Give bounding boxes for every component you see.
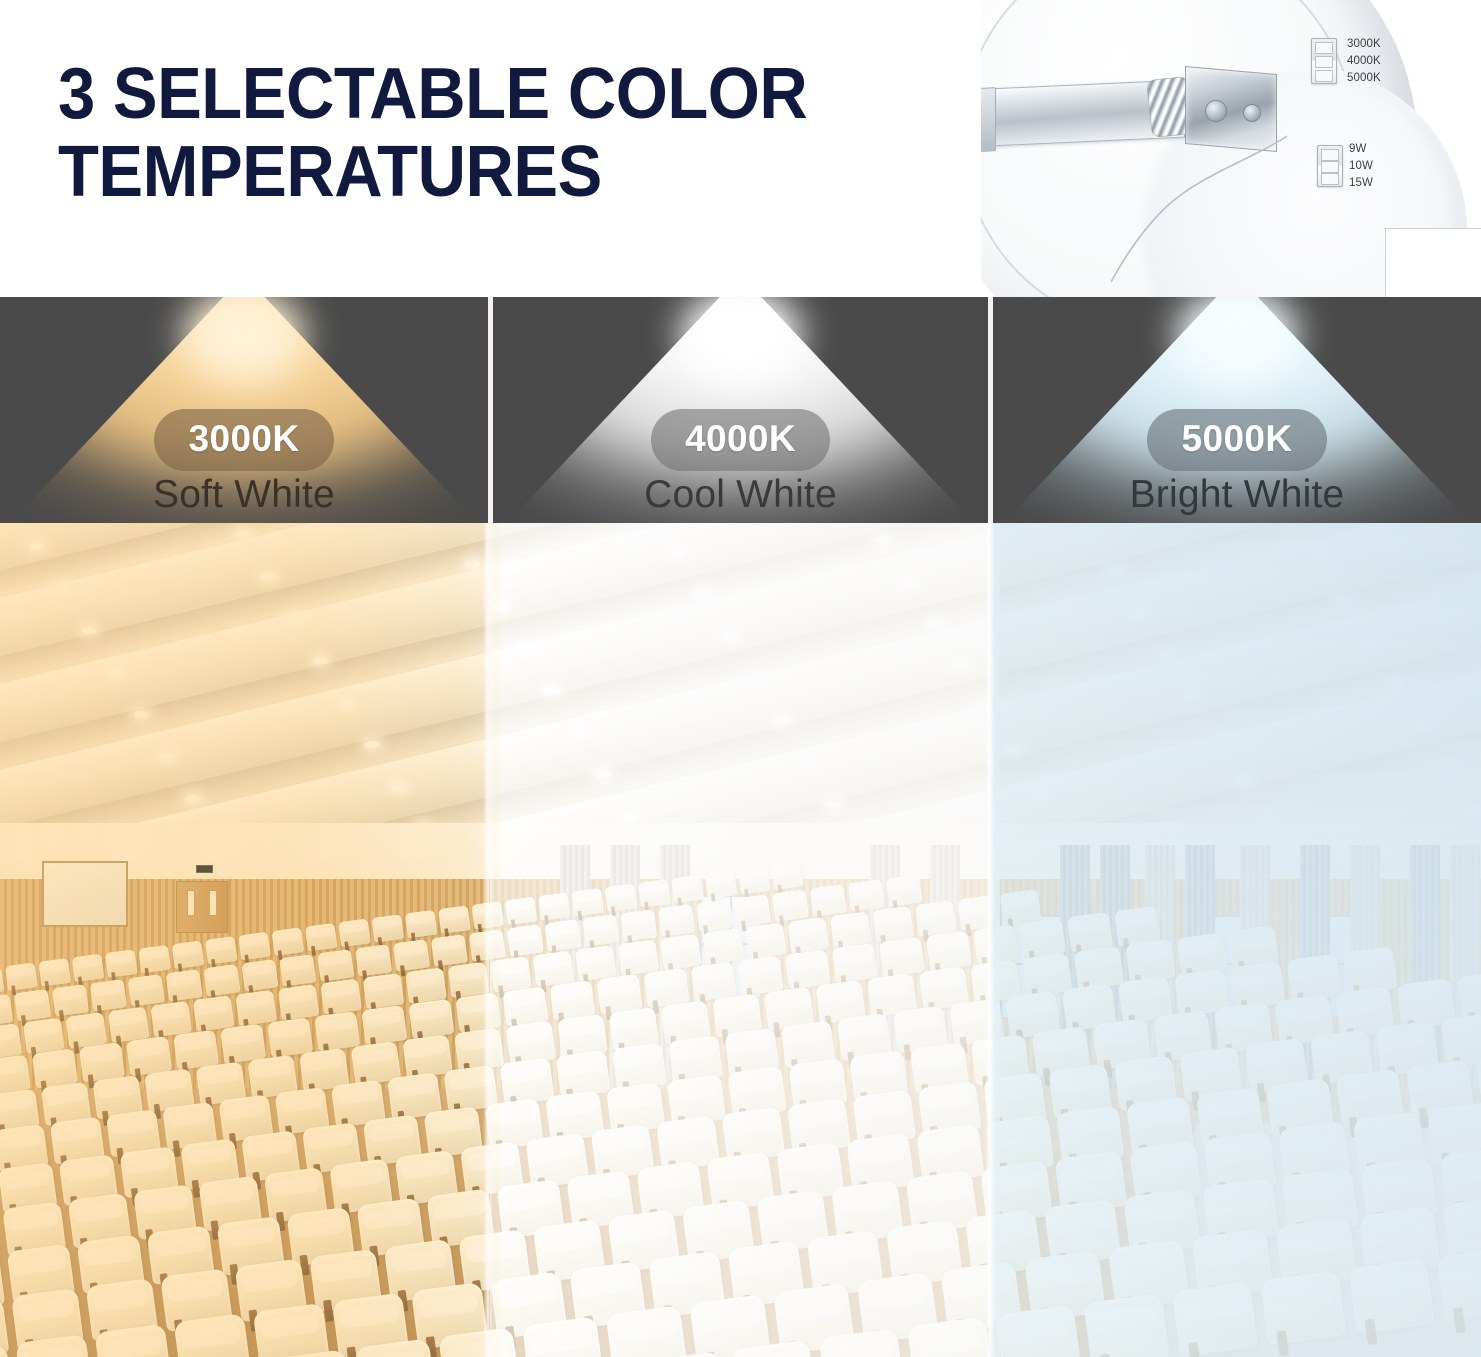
wattage-switch-labels: 9W 10W 15W bbox=[1349, 141, 1373, 191]
recessed-downlight-icon bbox=[775, 717, 789, 724]
cct-switch-labels: 3000K 4000K 5000K bbox=[1347, 36, 1381, 86]
auditorium-seat bbox=[469, 929, 506, 961]
auditorium-seat bbox=[1074, 946, 1125, 990]
auditorium-seat bbox=[1287, 954, 1342, 1002]
auditorium-seat bbox=[241, 959, 278, 991]
wattage-dip-switch[interactable] bbox=[1317, 145, 1343, 187]
auditorium-seat bbox=[1083, 1293, 1169, 1357]
recessed-downlight-icon bbox=[1442, 765, 1456, 772]
recessed-downlight-icon bbox=[134, 711, 148, 718]
auditorium-seat bbox=[545, 919, 582, 951]
header-section: 3 SELECTABLE COLOR TEMPERATURES 3000K 40… bbox=[0, 0, 1481, 297]
auditorium-seat bbox=[95, 1324, 172, 1357]
cct-label: Cool White bbox=[644, 473, 837, 523]
cct-badge: 4000K bbox=[651, 409, 830, 471]
auditorium-seat bbox=[522, 1316, 604, 1357]
auditorium-seat bbox=[72, 954, 105, 982]
color-temperature-panels: 3000K Soft White 4000K Cool White 5000K … bbox=[0, 297, 1481, 523]
recessed-downlight-icon bbox=[671, 549, 685, 556]
auditorium-seat bbox=[203, 964, 240, 996]
auditorium-seat bbox=[1437, 1247, 1481, 1322]
auditorium-seat bbox=[128, 974, 165, 1006]
product-shadow-base bbox=[1385, 228, 1481, 297]
recessed-downlight-icon bbox=[622, 813, 636, 820]
auditorium-seat bbox=[166, 969, 203, 1001]
auditorium-seat bbox=[174, 1313, 251, 1357]
recessed-downlight-icon bbox=[827, 801, 841, 808]
auditorium-seat bbox=[0, 1345, 14, 1357]
auditorium-seat bbox=[734, 894, 771, 926]
screw-icon bbox=[1243, 104, 1261, 122]
recessed-downlight-icon bbox=[30, 543, 44, 550]
auditorium-seat bbox=[738, 866, 771, 894]
recessed-downlight-icon bbox=[365, 741, 379, 748]
auditorium-seat bbox=[405, 910, 438, 938]
recessed-downlight-icon bbox=[876, 537, 890, 544]
auditorium-seat bbox=[355, 944, 392, 976]
auditorium-seat bbox=[14, 989, 51, 1021]
cct-panel-4000k[interactable]: 4000K Cool White bbox=[493, 297, 988, 523]
page-title: 3 SELECTABLE COLOR TEMPERATURES bbox=[58, 56, 895, 212]
auditorium-seat bbox=[505, 897, 538, 925]
recessed-downlight-icon bbox=[980, 705, 994, 712]
recessed-downlight-icon bbox=[1133, 609, 1147, 616]
auditorium-seat bbox=[305, 923, 338, 951]
recessed-downlight-icon bbox=[954, 663, 968, 670]
recessed-downlight-icon bbox=[1237, 777, 1251, 784]
room-render bbox=[0, 523, 1481, 1357]
auditorium-seat bbox=[638, 879, 671, 907]
auditorium-seat bbox=[886, 874, 923, 906]
auditorium-seat bbox=[907, 1317, 993, 1357]
recessed-downlight-icon bbox=[108, 669, 122, 676]
auditorium-seat bbox=[317, 949, 354, 981]
auditorium-seat bbox=[1125, 939, 1176, 983]
recessed-downlight-icon bbox=[1390, 681, 1404, 688]
recessed-downlight-icon bbox=[56, 585, 70, 592]
recessed-downlight-icon bbox=[160, 753, 174, 760]
recessed-downlight-icon bbox=[902, 579, 916, 586]
cct-panel-5000k[interactable]: 5000K Bright White bbox=[993, 297, 1481, 523]
auditorium-seat bbox=[973, 925, 1019, 965]
recessed-downlight-icon bbox=[1312, 555, 1326, 562]
recessed-downlight-icon bbox=[749, 675, 763, 682]
auditorium-seat bbox=[582, 914, 619, 946]
auditorium-seat bbox=[848, 879, 885, 911]
auditorium-seat bbox=[0, 994, 13, 1026]
auditorium-seat bbox=[205, 936, 238, 964]
exit-sign-icon bbox=[196, 865, 213, 873]
auditorium-seat bbox=[338, 919, 371, 947]
auditorium-seat bbox=[620, 909, 657, 941]
recessed-downlight-icon bbox=[1211, 735, 1225, 742]
cct-badge: 5000K bbox=[1147, 409, 1326, 471]
recessed-downlight-icon bbox=[466, 561, 480, 568]
auditorium-seat bbox=[438, 905, 471, 933]
projection-screen bbox=[42, 861, 128, 927]
recessed-downlight-icon bbox=[339, 699, 353, 706]
recessed-downlight-icon bbox=[928, 621, 942, 628]
auditorium-seat bbox=[253, 1303, 330, 1357]
auditorium-seat bbox=[507, 924, 544, 956]
auditorium-seat bbox=[995, 1305, 1081, 1357]
auditorium-seat bbox=[915, 900, 957, 936]
auditorium-seat bbox=[571, 888, 604, 916]
auditorium-seat bbox=[272, 927, 305, 955]
cct-label: Soft White bbox=[153, 473, 335, 523]
auditorium-seat bbox=[538, 892, 571, 920]
recessed-downlight-icon bbox=[287, 615, 301, 622]
auditorium-seat bbox=[772, 889, 809, 921]
recessed-downlight-icon bbox=[544, 687, 558, 694]
auditorium-seat bbox=[926, 931, 972, 971]
auditorium-seat bbox=[1348, 1258, 1434, 1333]
screw-icon bbox=[1205, 100, 1227, 122]
recessed-downlight-icon bbox=[313, 657, 327, 664]
recessed-downlight-icon bbox=[596, 771, 610, 778]
auditorium-seat bbox=[5, 962, 38, 990]
recessed-downlight-icon bbox=[261, 573, 275, 580]
recessed-downlight-icon bbox=[1468, 807, 1481, 814]
auditorium-seat bbox=[38, 958, 71, 986]
recessed-downlight-icon bbox=[1032, 789, 1046, 796]
auditorium-seat bbox=[138, 945, 171, 973]
auditorium-seat bbox=[105, 949, 138, 977]
auditorium-seat bbox=[957, 895, 999, 931]
recessed-downlight-icon bbox=[1081, 525, 1095, 532]
recessed-downlight-icon bbox=[235, 531, 249, 538]
auditorium-seat bbox=[606, 1305, 688, 1357]
recessed-downlight-icon bbox=[518, 645, 532, 652]
recessed-downlight-icon bbox=[1364, 639, 1378, 646]
auditorium-seat bbox=[671, 875, 704, 903]
recessed-downlight-icon bbox=[186, 795, 200, 802]
recessed-downlight-icon bbox=[391, 783, 405, 790]
recessed-downlight-icon bbox=[82, 627, 96, 634]
auditorium-seat bbox=[393, 939, 430, 971]
auditorium-seat bbox=[1441, 1013, 1481, 1069]
recessed-downlight-icon bbox=[570, 729, 584, 736]
recessed-downlight-icon bbox=[1416, 723, 1430, 730]
recessed-downlight-icon bbox=[1107, 567, 1121, 574]
auditorium-seat bbox=[705, 870, 738, 898]
cct-label: Bright White bbox=[1130, 473, 1345, 523]
auditorium-seat bbox=[90, 979, 127, 1011]
auditorium-seat bbox=[872, 906, 914, 942]
recessed-downlight-icon bbox=[801, 759, 815, 766]
auditorium-seat bbox=[696, 899, 733, 931]
recessed-downlight-icon bbox=[1006, 747, 1020, 754]
infographic-page: 3 SELECTABLE COLOR TEMPERATURES 3000K 40… bbox=[0, 0, 1481, 1357]
auditorium-seat bbox=[1000, 889, 1042, 925]
junction-bracket bbox=[1185, 66, 1277, 152]
recessed-downlight-icon bbox=[1159, 651, 1173, 658]
auditorium-seat bbox=[658, 904, 695, 936]
product-photo: 3000K 4000K 5000K 9W 10W 15W bbox=[981, 0, 1481, 297]
auditorium-seat bbox=[238, 932, 271, 960]
recessed-downlight-icon bbox=[1338, 597, 1352, 604]
cct-badge: 3000K bbox=[154, 409, 333, 471]
auditorium-seat bbox=[605, 884, 638, 912]
auditorium-seat bbox=[52, 984, 89, 1016]
auditorium-seat bbox=[471, 901, 504, 929]
auditorium-comparison-photo bbox=[0, 523, 1481, 1357]
recessed-downlight-icon bbox=[492, 603, 506, 610]
auditorium-seat bbox=[771, 862, 804, 890]
auditorium-seat bbox=[279, 954, 316, 986]
recessed-downlight-icon bbox=[723, 633, 737, 640]
auditorium-seat bbox=[172, 941, 205, 969]
recessed-downlight-icon bbox=[697, 591, 711, 598]
auditorium-door bbox=[176, 881, 228, 933]
auditorium-seat bbox=[830, 912, 872, 948]
auditorium-seat bbox=[1260, 1270, 1346, 1345]
auditorium-seat bbox=[0, 967, 4, 995]
auditorium-seat bbox=[1343, 947, 1398, 995]
auditorium-seat bbox=[1172, 1282, 1258, 1357]
recessed-downlight-icon bbox=[1185, 693, 1199, 700]
auditorium-seat bbox=[810, 884, 847, 916]
cct-panel-3000k[interactable]: 3000K Soft White bbox=[0, 297, 488, 523]
auditorium-seat bbox=[371, 914, 404, 942]
cct-dip-switch[interactable] bbox=[1311, 38, 1337, 84]
auditorium-seat bbox=[431, 934, 468, 966]
